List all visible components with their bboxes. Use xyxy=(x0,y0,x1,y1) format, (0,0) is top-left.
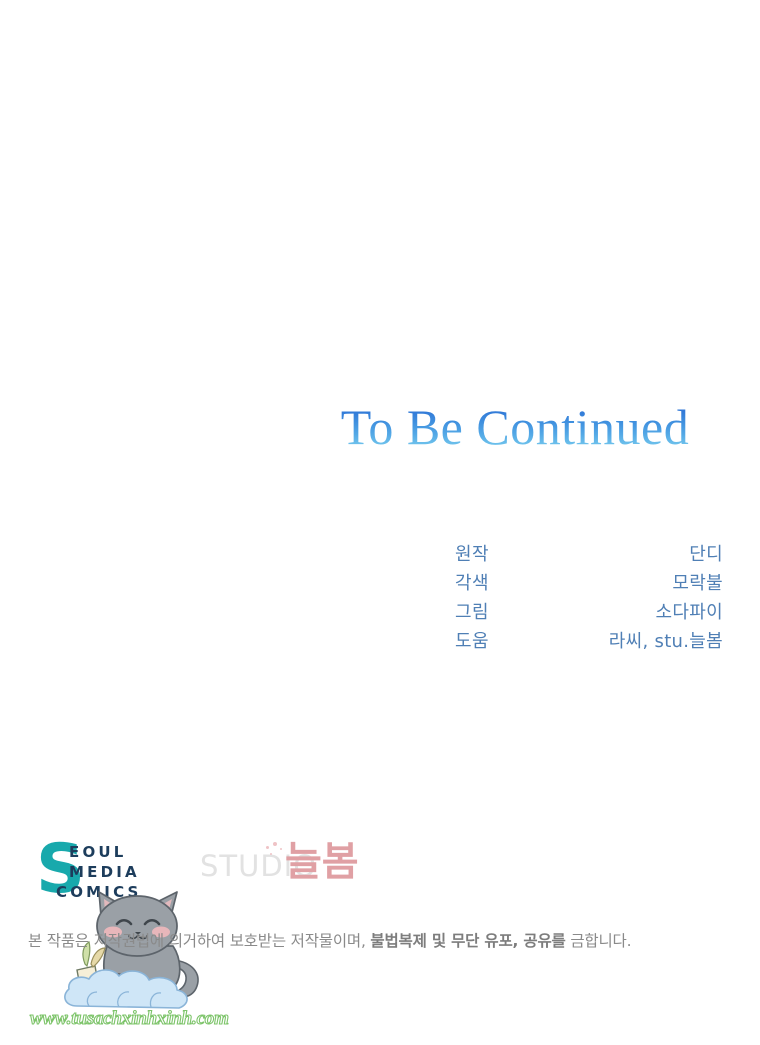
credit-row: 각색 모락불 xyxy=(455,569,723,598)
copyright-part-3: 금합니다. xyxy=(566,932,632,950)
credit-row: 도움 라씨, stu.늘봄 xyxy=(455,627,723,656)
credit-value-art: 소다파이 xyxy=(656,598,723,624)
copyright-part-1: 본 작품은 저작권법에 의거하여 보호받는 저작물이며, xyxy=(28,932,370,950)
credit-value-adaptation: 모락불 xyxy=(672,569,723,595)
credit-value-original-work: 단디 xyxy=(689,540,723,566)
copyright-part-bold: 불법복제 및 무단 유포, 공유를 xyxy=(370,932,565,950)
studio-neulbom-logo: STUDIO 늘봄 xyxy=(200,844,370,900)
sparkle-icon xyxy=(266,846,269,849)
footer-logo-row: S EOUL MEDIA COMICS STUDIO 늘봄 xyxy=(36,840,370,906)
sparkle-icon xyxy=(270,853,272,855)
copyright-notice: 본 작품은 저작권법에 의거하여 보호받는 저작물이며, 불법복제 및 무단 유… xyxy=(28,929,631,951)
seoul-media-line-1: EOUL xyxy=(69,842,140,862)
studio-korean-name: 늘봄 xyxy=(285,840,359,884)
credit-label-original-work: 원작 xyxy=(455,540,489,566)
to-be-continued-text: To Be Continued xyxy=(341,398,689,456)
site-url-watermark: www.tusachxinhxinh.com xyxy=(30,1008,229,1030)
credits-list: 원작 단디 각색 모락불 그림 소다파이 도움 라씨, stu.늘봄 xyxy=(455,540,723,656)
seoul-media-wordmark: EOUL MEDIA COMICS xyxy=(69,842,140,882)
credit-label-adaptation: 각색 xyxy=(455,569,489,595)
credit-label-art: 그림 xyxy=(455,598,489,624)
to-be-continued-banner: To Be Continued xyxy=(0,398,760,456)
credit-row: 그림 소다파이 xyxy=(455,598,723,627)
credit-label-assistance: 도움 xyxy=(455,627,489,653)
credit-row: 원작 단디 xyxy=(455,540,723,569)
seoul-media-comics-logo: S EOUL MEDIA COMICS xyxy=(36,840,158,906)
sparkle-icon xyxy=(280,848,282,850)
sparkle-icon xyxy=(273,842,277,846)
seoul-media-line-3: COMICS xyxy=(56,882,142,902)
seoul-media-line-2: MEDIA xyxy=(69,862,140,882)
credit-value-assistance: 라씨, stu.늘봄 xyxy=(609,627,723,653)
